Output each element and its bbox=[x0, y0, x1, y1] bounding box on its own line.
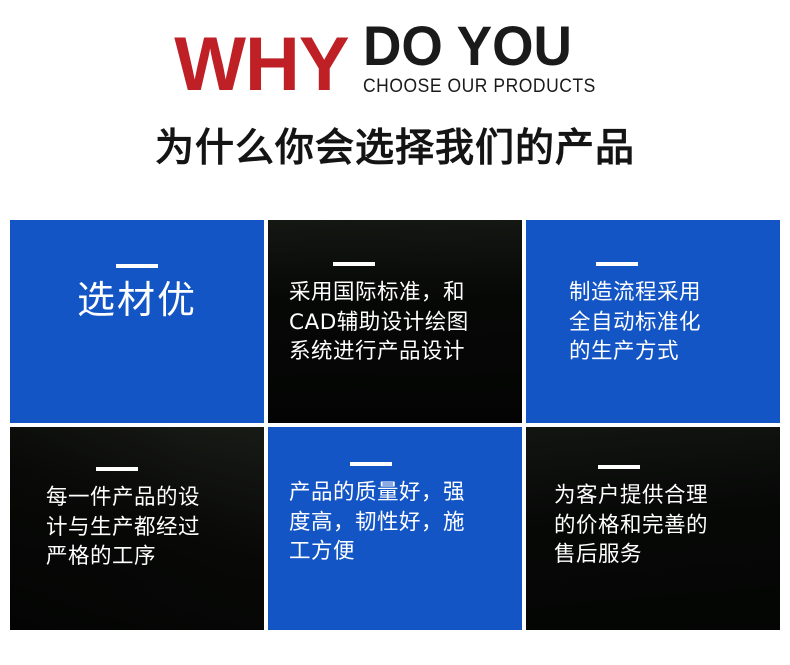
feature-cell-content: 采用国际标准，和 CAD辅助设计绘图 系统进行产品设计 bbox=[268, 220, 522, 423]
divider-dash-icon bbox=[96, 467, 138, 471]
feature-text: 选材优 bbox=[77, 278, 197, 324]
feature-cell-content: 为客户提供合理 的价格和完善的 售后服务 bbox=[526, 427, 780, 630]
headline-choose-our-products: CHOOSE OUR PRODUCTS bbox=[363, 77, 596, 98]
headline-row: WHY DO YOU CHOOSE OUR PRODUCTS bbox=[0, 22, 790, 100]
headline-do-you: DO YOU bbox=[363, 19, 572, 72]
feature-text: 制造流程采用 全自动标准化 的生产方式 bbox=[569, 278, 780, 367]
divider-dash-icon bbox=[333, 262, 375, 266]
headline-chinese-subtitle: 为什么你会选择我们的产品 bbox=[0, 127, 790, 172]
feature-text: 产品的质量好，强 度高，韧性好，施 工方便 bbox=[289, 478, 522, 567]
feature-cell-content: 产品的质量好，强 度高，韧性好，施 工方便 bbox=[268, 427, 522, 630]
divider-dash-icon bbox=[350, 462, 392, 466]
feature-cell-quality-control: 每一件产品的设 计与生产都经过 严格的工序 bbox=[10, 427, 264, 630]
headline-right-group: DO YOU CHOOSE OUR PRODUCTS bbox=[363, 19, 616, 100]
feature-cell-content: 制造流程采用 全自动标准化 的生产方式 bbox=[526, 220, 780, 423]
page-header: WHY DO YOU CHOOSE OUR PRODUCTS 为什么你会选择我们… bbox=[0, 0, 790, 210]
feature-cell-standard: 采用国际标准，和 CAD辅助设计绘图 系统进行产品设计 bbox=[268, 220, 522, 423]
feature-cell-content: 每一件产品的设 计与生产都经过 严格的工序 bbox=[10, 427, 264, 630]
feature-cell-content: 选材优 bbox=[10, 220, 264, 423]
feature-cell-strength: 产品的质量好，强 度高，韧性好，施 工方便 bbox=[268, 427, 522, 630]
feature-text: 每一件产品的设 计与生产都经过 严格的工序 bbox=[46, 483, 264, 572]
feature-cell-service: 为客户提供合理 的价格和完善的 售后服务 bbox=[526, 427, 780, 630]
headline-why: WHY bbox=[174, 30, 348, 100]
feature-text: 为客户提供合理 的价格和完善的 售后服务 bbox=[554, 481, 780, 570]
divider-dash-icon bbox=[598, 465, 640, 469]
feature-text: 采用国际标准，和 CAD辅助设计绘图 系统进行产品设计 bbox=[289, 278, 522, 367]
feature-grid: 选材优 采用国际标准，和 CAD辅助设计绘图 系统进行产品设计 制造流程采用 全… bbox=[10, 220, 780, 638]
feature-cell-material: 选材优 bbox=[10, 220, 264, 423]
divider-dash-icon bbox=[116, 264, 158, 268]
feature-cell-process: 制造流程采用 全自动标准化 的生产方式 bbox=[526, 220, 780, 423]
divider-dash-icon bbox=[596, 262, 638, 266]
